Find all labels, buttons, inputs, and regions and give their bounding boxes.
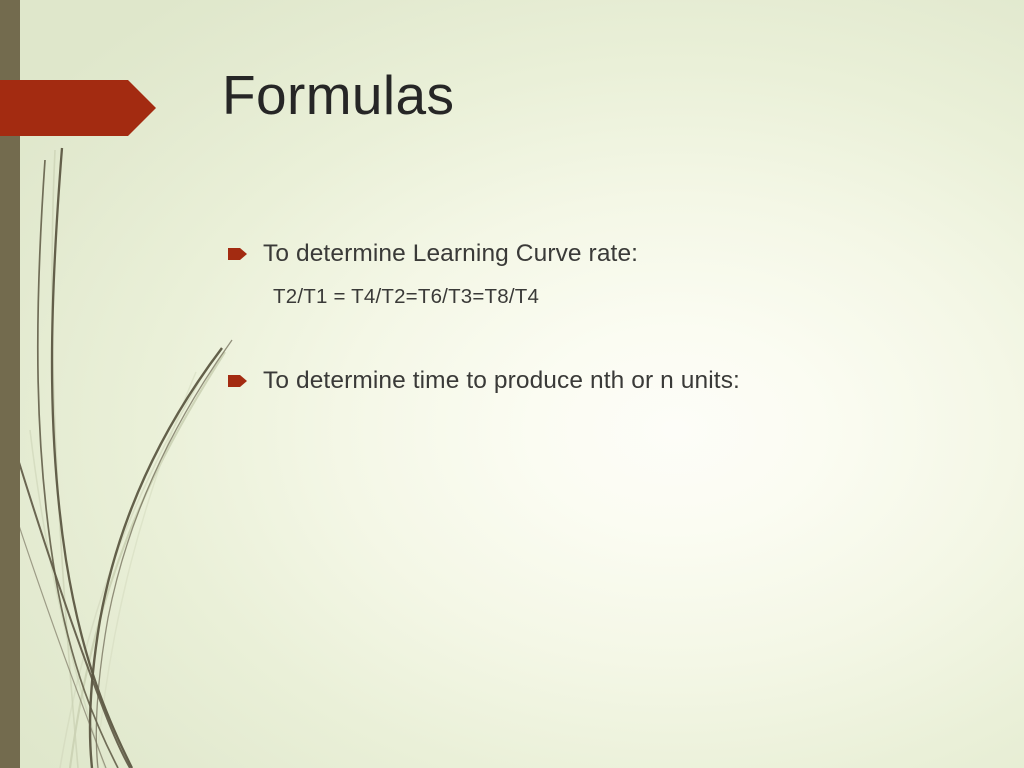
slide-title: Formulas — [222, 68, 454, 123]
pentagon-arrow-bullet-icon — [228, 248, 247, 260]
presentation-slide: Formulas To determine Learning Curve rat… — [0, 0, 1024, 768]
slide-body: To determine Learning Curve rate: T2/T1 … — [228, 238, 968, 397]
title-accent-banner — [0, 80, 156, 136]
bullet-item: To determine time to produce nth or n un… — [228, 365, 968, 397]
formula-text: T2/T1 = T4/T2=T6/T3=T8/T4 — [273, 283, 968, 311]
pentagon-arrow-bullet-icon — [228, 375, 247, 387]
bullet-item: To determine Learning Curve rate: — [228, 238, 968, 270]
bullet-text: To determine Learning Curve rate: — [263, 238, 638, 270]
bullet-text: To determine time to produce nth or n un… — [263, 365, 740, 397]
bullet-spacer — [228, 311, 968, 365]
